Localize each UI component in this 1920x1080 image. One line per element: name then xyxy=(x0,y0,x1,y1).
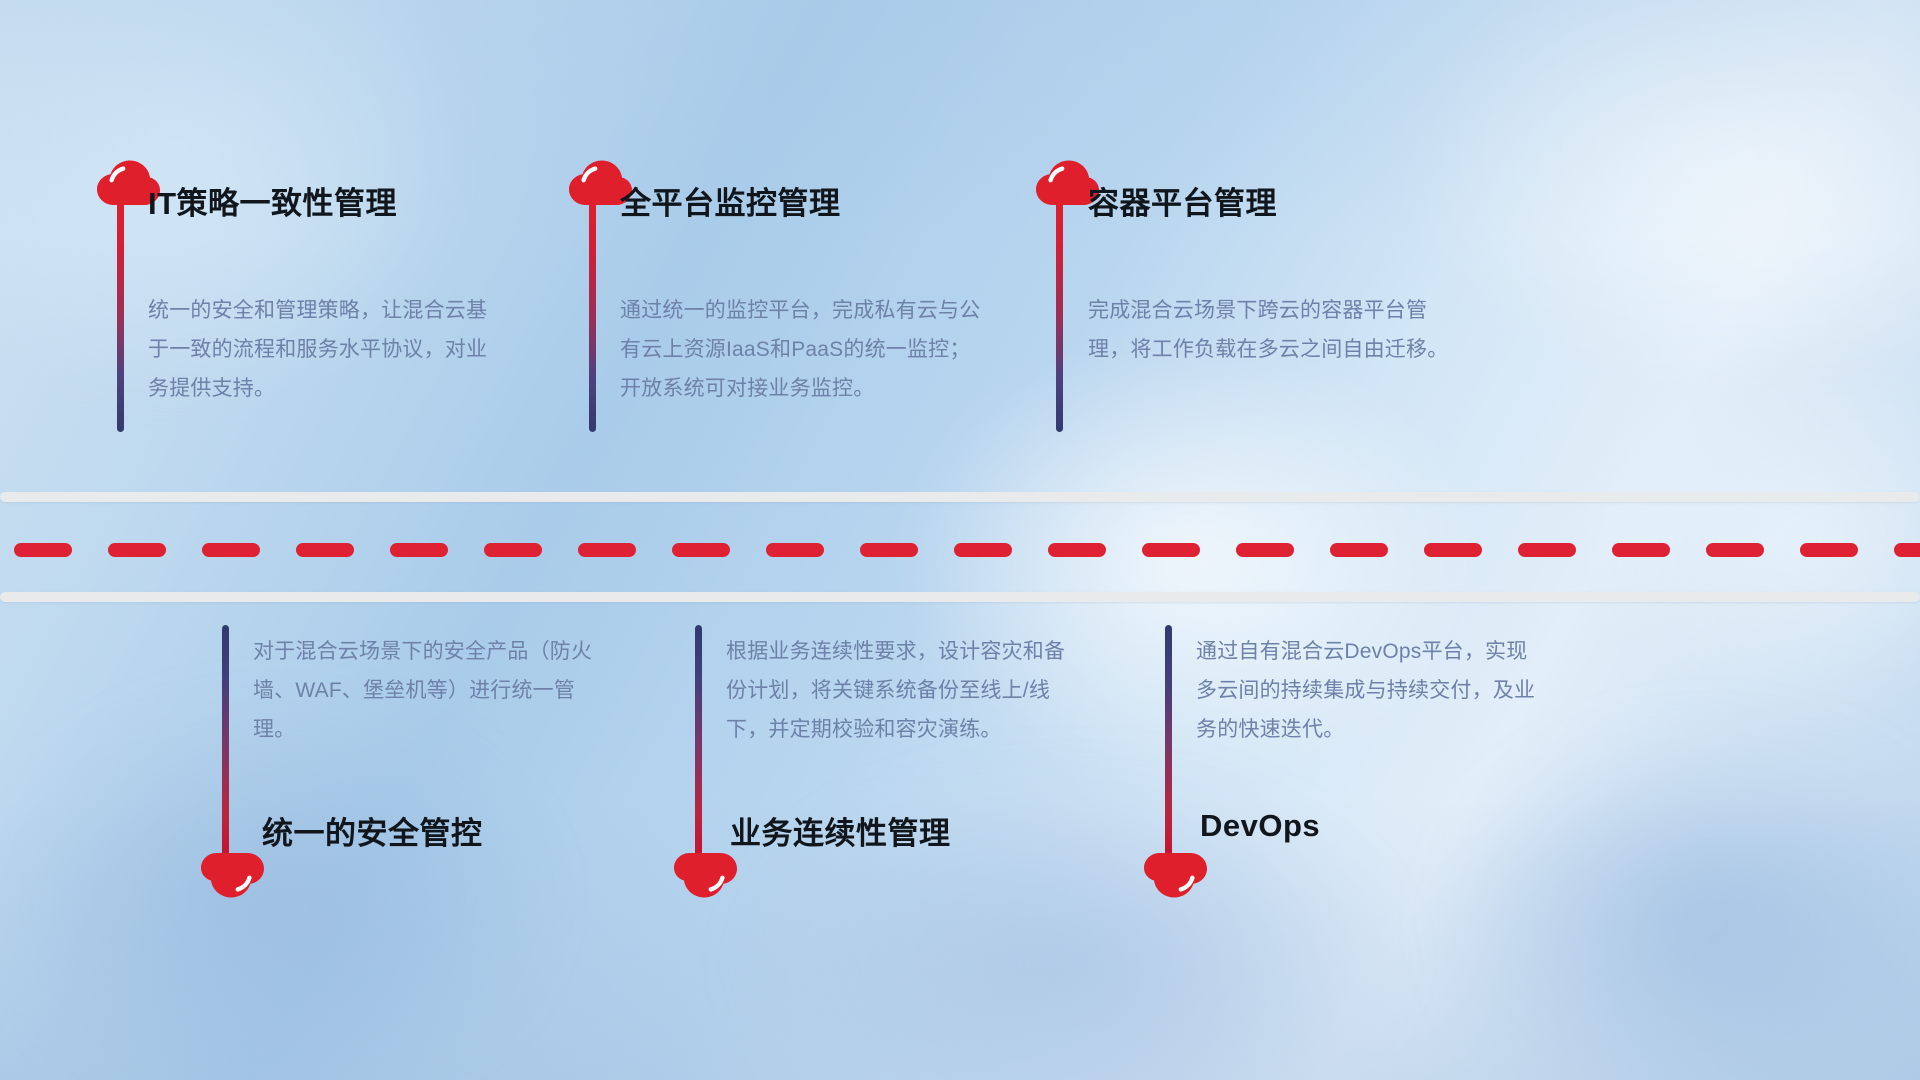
card-heading: 全平台监控管理 xyxy=(620,178,841,223)
divider-dash xyxy=(202,543,260,557)
divider-dash xyxy=(108,543,166,557)
card-heading: 统一的安全管控 xyxy=(262,808,483,853)
card-heading: 业务连续性管理 xyxy=(730,808,951,853)
divider-dash xyxy=(672,543,730,557)
divider-dash xyxy=(1142,543,1200,557)
divider-dash xyxy=(1894,543,1920,557)
divider-dash xyxy=(1048,543,1106,557)
divider-line-upper xyxy=(0,492,1920,502)
divider-dash xyxy=(860,543,918,557)
connector-stem xyxy=(1056,194,1063,432)
divider-dash xyxy=(1236,543,1294,557)
card-body: 根据业务连续性要求，设计容灾和备份计划，将关键系统备份至线上/线下，并定期校验和… xyxy=(726,632,1084,749)
background-vignette xyxy=(0,0,1920,1080)
connector-stem xyxy=(222,625,229,865)
connector-stem xyxy=(589,194,596,432)
divider-dash xyxy=(14,543,72,557)
divider-dash xyxy=(390,543,448,557)
cloud-icon xyxy=(1143,852,1209,898)
divider-dash xyxy=(578,543,636,557)
card-body: 完成混合云场景下跨云的容器平台管理，将工作负载在多云之间自由迁移。 xyxy=(1088,291,1450,369)
divider-dashed-line xyxy=(0,543,1920,557)
card-body: 通过统一的监控平台，完成私有云与公有云上资源IaaS和PaaS的统一监控；开放系… xyxy=(620,291,984,408)
divider-dash xyxy=(1518,543,1576,557)
card-heading: DevOps xyxy=(1200,808,1320,844)
divider-line-lower xyxy=(0,592,1920,602)
divider-dash xyxy=(954,543,1012,557)
cloud-icon xyxy=(200,852,266,898)
card-heading: 容器平台管理 xyxy=(1088,178,1277,223)
connector-stem xyxy=(1165,625,1172,865)
connector-stem xyxy=(117,194,124,432)
cloud-icon xyxy=(673,852,739,898)
divider-dash xyxy=(1706,543,1764,557)
divider-dash xyxy=(1424,543,1482,557)
divider-dash xyxy=(766,543,824,557)
card-body: 统一的安全和管理策略，让混合云基于一致的流程和服务水平协议，对业务提供支持。 xyxy=(148,291,508,408)
divider-dash xyxy=(1800,543,1858,557)
divider-dash xyxy=(296,543,354,557)
infographic-canvas: IT策略一致性管理 统一的安全和管理策略，让混合云基于一致的流程和服务水平协议，… xyxy=(0,0,1920,1080)
divider-dash xyxy=(1330,543,1388,557)
divider-dash xyxy=(1612,543,1670,557)
connector-stem xyxy=(695,625,702,865)
card-heading: IT策略一致性管理 xyxy=(148,178,397,223)
card-body: 通过自有混合云DevOps平台，实现多云间的持续集成与持续交付，及业务的快速迭代… xyxy=(1196,632,1542,749)
divider-dash xyxy=(484,543,542,557)
card-body: 对于混合云场景下的安全产品（防火墙、WAF、堡垒机等）进行统一管理。 xyxy=(253,632,605,749)
